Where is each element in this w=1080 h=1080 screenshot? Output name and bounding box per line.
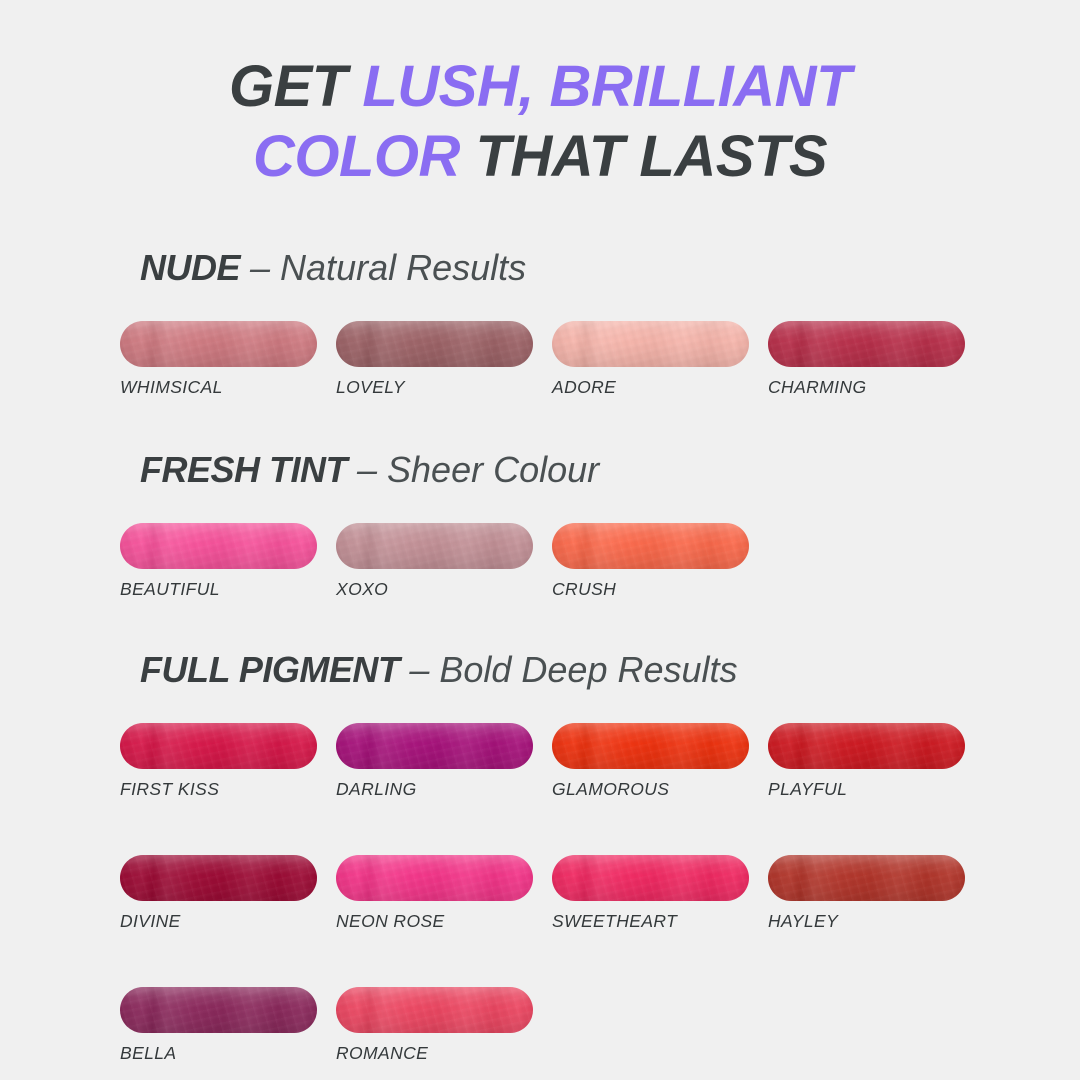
- page-title-line-2-accent: COLOR: [253, 124, 476, 189]
- swatch-playful[interactable]: PLAYFUL: [768, 723, 984, 800]
- swatch-grain-icon: [552, 523, 749, 569]
- swatch-grid-nude: WHIMSICAL LOVELY ADORE: [0, 290, 1080, 398]
- swatch-row: FIRST KISS DARLING GLA: [120, 723, 1080, 800]
- swatch-sheen-icon: [336, 723, 533, 769]
- swatch-grain-icon: [336, 523, 533, 569]
- section-fresh-tint: FRESH TINT – Sheer Colour BEAUTIFUL: [0, 448, 1080, 600]
- swatch-sheen-icon: [120, 523, 317, 569]
- swatch-grain-icon: [552, 723, 749, 769]
- swatch-beautiful[interactable]: BEAUTIFUL: [120, 523, 336, 600]
- swatch-sheen-icon: [768, 321, 965, 367]
- swatch-pill[interactable]: [552, 321, 749, 367]
- swatch-label: DIVINE: [120, 911, 336, 932]
- swatch-pill[interactable]: [120, 855, 317, 901]
- swatch-streak-icon: [120, 523, 317, 569]
- page-title-line-1: GET LUSH, BRILLIANT: [0, 52, 1080, 122]
- swatch-pill[interactable]: [552, 855, 749, 901]
- swatch-grain-icon: [336, 723, 533, 769]
- swatch-streak-icon: [552, 321, 749, 367]
- swatch-sheen-icon: [768, 723, 965, 769]
- swatch-grain-icon: [120, 987, 317, 1033]
- swatch-darling[interactable]: DARLING: [336, 723, 552, 800]
- swatch-divine[interactable]: DIVINE: [120, 855, 336, 932]
- swatch-sweetheart[interactable]: SWEETHEART: [552, 855, 768, 932]
- swatch-label: XOXO: [336, 579, 552, 600]
- swatch-sheen-icon: [120, 855, 317, 901]
- swatch-streak-icon: [120, 987, 317, 1033]
- swatch-row: BEAUTIFUL XOXO CRUSH: [120, 523, 1080, 600]
- swatch-pill[interactable]: [336, 523, 533, 569]
- swatch-grain-icon: [552, 855, 749, 901]
- swatch-row: DIVINE NEON ROSE SWEET: [120, 855, 1080, 932]
- swatch-grain-icon: [768, 855, 965, 901]
- swatch-sheen-icon: [552, 321, 749, 367]
- swatch-label: BEAUTIFUL: [120, 579, 336, 600]
- swatch-grain-icon: [336, 321, 533, 367]
- swatch-pill[interactable]: [768, 321, 965, 367]
- swatch-pill[interactable]: [336, 321, 533, 367]
- swatch-pill[interactable]: [120, 523, 317, 569]
- swatch-label: CRUSH: [552, 579, 768, 600]
- swatch-sheen-icon: [336, 523, 533, 569]
- swatch-pill[interactable]: [336, 723, 533, 769]
- section-full-pigment: FULL PIGMENT – Bold Deep Results FIRST K…: [0, 648, 1080, 1064]
- page-title-line-2: COLOR THAT LASTS: [0, 122, 1080, 192]
- swatch-label: GLAMOROUS: [552, 779, 768, 800]
- swatch-sheen-icon: [120, 321, 317, 367]
- swatch-grain-icon: [120, 723, 317, 769]
- page-title-line-1-plain: GET: [229, 54, 362, 119]
- swatch-streak-icon: [768, 855, 965, 901]
- swatch-row: BELLA ROMANCE: [120, 987, 1080, 1064]
- swatch-bella[interactable]: BELLA: [120, 987, 336, 1064]
- swatch-pill[interactable]: [336, 855, 533, 901]
- section-header-fresh-tint: FRESH TINT – Sheer Colour: [0, 448, 1080, 492]
- swatch-label: HAYLEY: [768, 911, 984, 932]
- swatch-label: FIRST KISS: [120, 779, 336, 800]
- section-description: – Bold Deep Results: [399, 649, 737, 690]
- section-name: FULL PIGMENT: [140, 649, 399, 690]
- page-title-line-1-accent: LUSH, BRILLIANT: [362, 54, 851, 119]
- swatch-streak-icon: [552, 723, 749, 769]
- swatch-label: NEON ROSE: [336, 911, 552, 932]
- swatch-sheen-icon: [336, 855, 533, 901]
- swatch-streak-icon: [120, 321, 317, 367]
- swatch-pill[interactable]: [336, 987, 533, 1033]
- swatch-grain-icon: [120, 523, 317, 569]
- swatch-glamorous[interactable]: GLAMOROUS: [552, 723, 768, 800]
- swatch-pill[interactable]: [120, 987, 317, 1033]
- swatch-sheen-icon: [120, 987, 317, 1033]
- swatch-grain-icon: [552, 321, 749, 367]
- swatch-xoxo[interactable]: XOXO: [336, 523, 552, 600]
- swatch-sheen-icon: [768, 855, 965, 901]
- swatch-adore[interactable]: ADORE: [552, 321, 768, 398]
- swatch-hayley[interactable]: HAYLEY: [768, 855, 984, 932]
- swatch-label: SWEETHEART: [552, 911, 768, 932]
- swatch-label: ADORE: [552, 377, 768, 398]
- swatch-streak-icon: [336, 523, 533, 569]
- swatch-label: DARLING: [336, 779, 552, 800]
- swatch-label: WHIMSICAL: [120, 377, 336, 398]
- swatch-grain-icon: [336, 855, 533, 901]
- swatch-label: CHARMING: [768, 377, 984, 398]
- swatch-streak-icon: [336, 855, 533, 901]
- swatch-pill[interactable]: [768, 723, 965, 769]
- swatch-charming[interactable]: CHARMING: [768, 321, 984, 398]
- swatch-whimsical[interactable]: WHIMSICAL: [120, 321, 336, 398]
- section-header-full-pigment: FULL PIGMENT – Bold Deep Results: [0, 648, 1080, 692]
- swatch-pill[interactable]: [552, 723, 749, 769]
- swatch-label: ROMANCE: [336, 1043, 552, 1064]
- swatch-streak-icon: [768, 723, 965, 769]
- swatch-first-kiss[interactable]: FIRST KISS: [120, 723, 336, 800]
- swatch-streak-icon: [120, 855, 317, 901]
- swatch-label: LOVELY: [336, 377, 552, 398]
- section-name: NUDE: [140, 247, 240, 288]
- swatch-streak-icon: [336, 987, 533, 1033]
- swatch-streak-icon: [552, 855, 749, 901]
- page-title: GET LUSH, BRILLIANT COLOR THAT LASTS: [0, 52, 1080, 192]
- swatch-pill[interactable]: [120, 723, 317, 769]
- swatch-label: BELLA: [120, 1043, 336, 1064]
- swatch-streak-icon: [768, 321, 965, 367]
- swatch-crush[interactable]: CRUSH: [552, 523, 768, 600]
- swatch-grain-icon: [336, 987, 533, 1033]
- swatch-label: PLAYFUL: [768, 779, 984, 800]
- swatch-row: WHIMSICAL LOVELY ADORE: [120, 321, 1080, 398]
- swatch-sheen-icon: [552, 523, 749, 569]
- swatch-streak-icon: [120, 723, 317, 769]
- swatch-sheen-icon: [336, 987, 533, 1033]
- swatch-sheen-icon: [120, 723, 317, 769]
- section-nude: NUDE – Natural Results WHIMSICAL: [0, 246, 1080, 398]
- swatch-lovely[interactable]: LOVELY: [336, 321, 552, 398]
- section-description: – Sheer Colour: [347, 449, 599, 490]
- swatch-pill[interactable]: [768, 855, 965, 901]
- section-header-nude: NUDE – Natural Results: [0, 246, 1080, 290]
- swatch-grid-fresh-tint: BEAUTIFUL XOXO CRUSH: [0, 492, 1080, 600]
- page-title-line-2-plain: THAT LASTS: [475, 124, 827, 189]
- swatch-grain-icon: [768, 321, 965, 367]
- swatch-grain-icon: [120, 321, 317, 367]
- swatch-grain-icon: [768, 723, 965, 769]
- swatch-neon-rose[interactable]: NEON ROSE: [336, 855, 552, 932]
- swatch-pill[interactable]: [120, 321, 317, 367]
- swatch-grain-icon: [120, 855, 317, 901]
- swatch-pill[interactable]: [552, 523, 749, 569]
- swatch-grid-full-pigment: FIRST KISS DARLING GLA: [0, 692, 1080, 1064]
- swatch-sheen-icon: [552, 723, 749, 769]
- section-name: FRESH TINT: [140, 449, 347, 490]
- swatch-romance[interactable]: ROMANCE: [336, 987, 552, 1064]
- lipstick-shade-chart: GET LUSH, BRILLIANT COLOR THAT LASTS NUD…: [0, 0, 1080, 1080]
- swatch-sheen-icon: [552, 855, 749, 901]
- swatch-streak-icon: [336, 723, 533, 769]
- section-description: – Natural Results: [240, 247, 526, 288]
- swatch-streak-icon: [552, 523, 749, 569]
- swatch-sheen-icon: [336, 321, 533, 367]
- swatch-streak-icon: [336, 321, 533, 367]
